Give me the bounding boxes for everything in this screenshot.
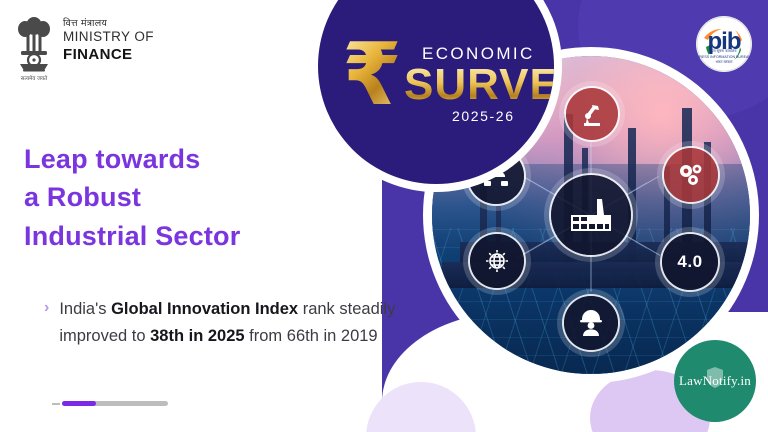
page-title: Leap towards a Robust Industrial Sector xyxy=(24,140,364,255)
lawnotify-label: LawNotify.in xyxy=(679,373,751,389)
infographic-canvas: 4.0 ₹ ECONOMIC SURVEY 2025-26 xyxy=(0,0,768,432)
bullet-part-3: from 66th in 2019 xyxy=(245,327,378,345)
industry-4-0-icon: 4.0 xyxy=(677,252,702,272)
robot-arm-icon xyxy=(578,101,606,127)
pib-sub-line3: भारत सरकार xyxy=(696,60,752,65)
node-robot-arm xyxy=(566,88,618,140)
chevron-right-icon: › xyxy=(44,296,49,349)
progress-fill xyxy=(62,401,96,406)
bullet-part-1: India's xyxy=(59,300,111,318)
progress-bar[interactable] xyxy=(62,401,168,406)
headline-line-1: Leap towards xyxy=(24,140,364,178)
bullet-bold-1: Global Innovation Index xyxy=(111,300,298,318)
bullet-text: India's Global Innovation Index rank ste… xyxy=(59,296,444,349)
svg-text:सत्यमेव जयते: सत्यमेव जयते xyxy=(21,75,48,82)
node-globe-network xyxy=(470,234,524,288)
ministry-line1: MINISTRY OF xyxy=(63,29,154,46)
gears-icon xyxy=(676,161,706,189)
survey-year-label: 2025-26 xyxy=(452,108,515,124)
progress-tick xyxy=(52,403,60,405)
headline-line-2: a Robust xyxy=(24,178,364,216)
headline-line-3: Industrial Sector xyxy=(24,217,364,255)
survey-title-label: SURVEY xyxy=(404,60,554,110)
bullet-item: › India's Global Innovation Index rank s… xyxy=(44,296,444,349)
india-national-emblem-icon: सत्यमेव जयते xyxy=(14,16,54,88)
ministry-line2: FINANCE xyxy=(63,46,154,63)
lawnotify-watermark: LawNotify.in xyxy=(674,340,756,422)
globe-network-icon xyxy=(483,247,511,275)
node-gears xyxy=(664,148,718,202)
rupee-symbol-icon: ₹ xyxy=(342,32,402,118)
bullet-bold-2: 38th in 2025 xyxy=(150,327,244,345)
factory-icon xyxy=(569,197,613,233)
node-factory xyxy=(551,175,631,255)
node-industry-4-0: 4.0 xyxy=(662,234,718,290)
pib-subtitle: पत्र सूचना कार्यालय PRESS INFORMATION BU… xyxy=(696,49,752,65)
ministry-hindi-label: वित्त मंत्रालय xyxy=(63,16,154,29)
ministry-lockup: सत्यमेव जयते वित्त मंत्रालय MINISTRY OF … xyxy=(14,16,154,88)
engineer-worker-icon xyxy=(578,309,604,337)
node-engineer xyxy=(564,296,618,350)
pib-logo: pib पत्र सूचना कार्यालय PRESS INFORMATIO… xyxy=(696,16,752,72)
